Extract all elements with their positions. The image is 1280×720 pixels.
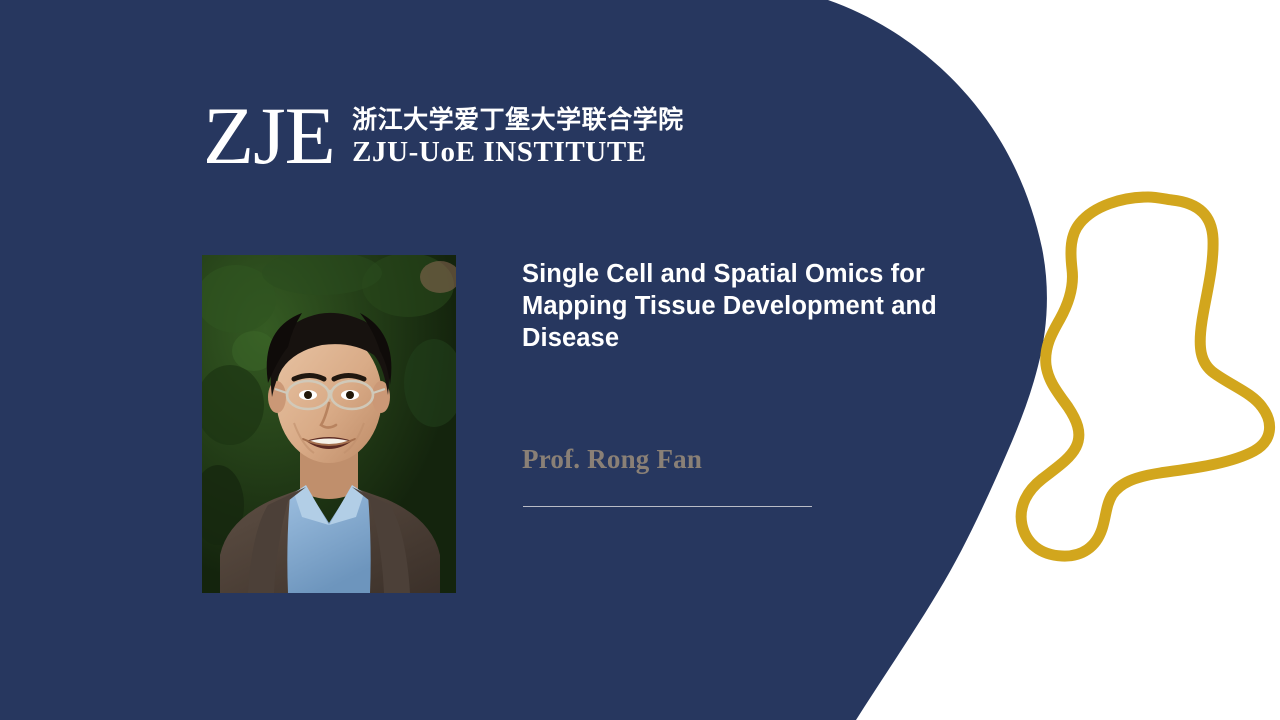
speaker-name: Prof. Rong Fan bbox=[522, 444, 702, 475]
gold-outline-blob-shape bbox=[1021, 197, 1269, 556]
logo-english-name: ZJU-UoE INSTITUTE bbox=[352, 137, 684, 169]
logo-wordmark-zje: ZJE bbox=[203, 98, 335, 173]
speaker-portrait bbox=[202, 255, 456, 593]
logo-text-block: 浙江大学爱丁堡大学联合学院 ZJU-UoE INSTITUTE bbox=[352, 103, 684, 169]
title-slide: ZJE 浙江大学爱丁堡大学联合学院 ZJU-UoE INSTITUTE bbox=[0, 0, 1280, 720]
talk-title: Single Cell and Spatial Omics for Mappin… bbox=[522, 258, 952, 354]
logo-chinese-name: 浙江大学爱丁堡大学联合学院 bbox=[352, 107, 684, 135]
speaker-divider-rule bbox=[523, 506, 812, 507]
institute-logo: ZJE 浙江大学爱丁堡大学联合学院 ZJU-UoE INSTITUTE bbox=[203, 92, 684, 180]
portrait-image bbox=[202, 255, 456, 593]
